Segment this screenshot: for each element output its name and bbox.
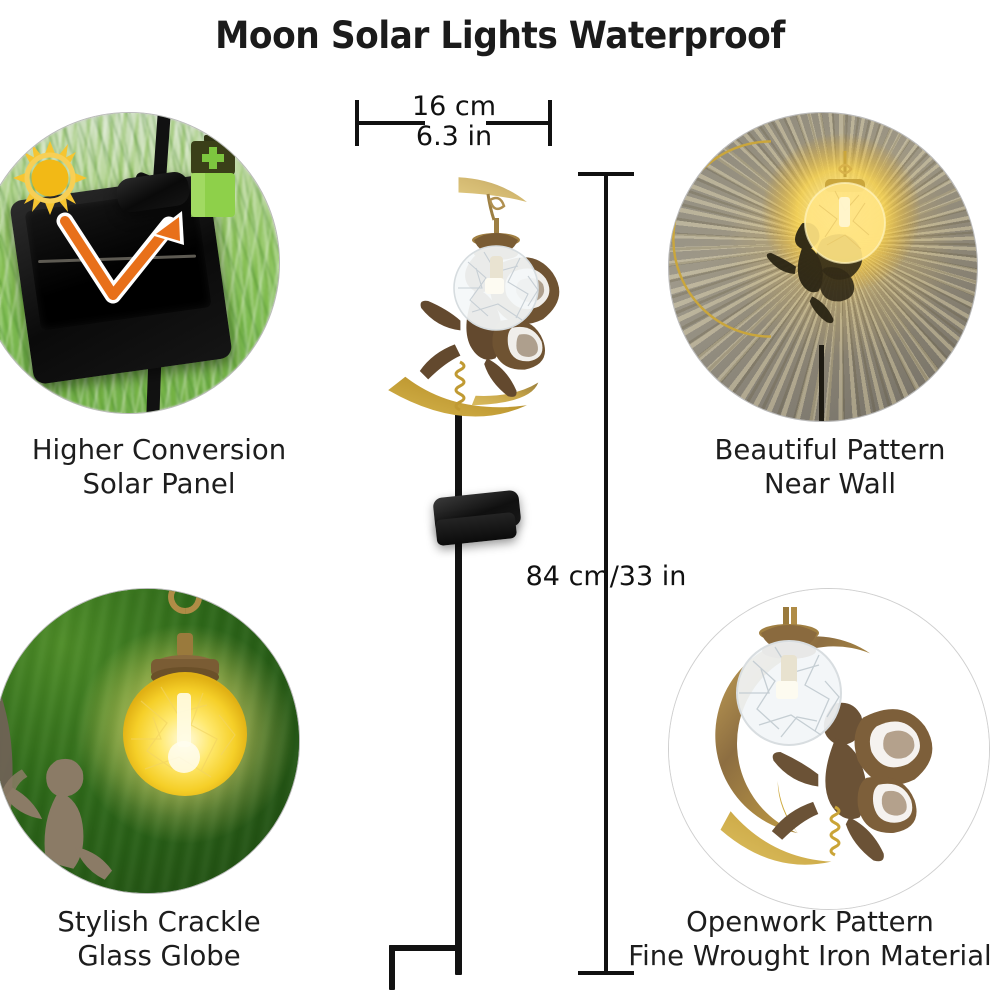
caption-openwork-pattern: Openwork Pattern Fine Wrought Iron Mater… [620, 906, 1000, 973]
caption-wall-pattern-line1: Beautiful Pattern [715, 434, 946, 466]
stake-crossbar [389, 945, 459, 951]
moon-fairy-icon [669, 589, 990, 910]
conversion-arrow-icon [0, 113, 279, 413]
caption-glass-globe: Stylish Crackle Glass Globe [0, 906, 318, 973]
crackle-globe [737, 607, 841, 745]
caption-solar-panel-line2: Solar Panel [0, 468, 318, 502]
height-dimension-label: 84 cm/33 in [466, 562, 746, 592]
feature-image-openwork-pattern [668, 588, 990, 910]
caption-solar-panel-line1: Higher Conversion [32, 434, 286, 466]
width-dimension-cm: 16 cm [412, 91, 496, 122]
moon-lamp-icon [669, 113, 978, 422]
feature-image-wall-pattern [668, 112, 978, 422]
width-dimension-in: 6.3 in [356, 122, 552, 152]
conversion-arrow-svg [0, 113, 280, 414]
caption-openwork-pattern-line1: Openwork Pattern [686, 906, 934, 938]
width-dimension-label: 16 cm 6.3 in [356, 92, 552, 152]
caption-glass-globe-line2: Glass Globe [0, 940, 318, 974]
product-globe [454, 194, 538, 330]
caption-solar-panel: Higher Conversion Solar Panel [0, 434, 318, 501]
caption-openwork-pattern-line2: Fine Wrought Iron Material [620, 940, 1000, 974]
globe-lamp-icon [0, 589, 300, 894]
infographic-canvas: Moon Solar Lights Waterproof [0, 0, 1000, 1000]
caption-wall-pattern-line2: Near Wall [660, 468, 1000, 502]
page-title: Moon Solar Lights Waterproof [35, 14, 965, 57]
caption-wall-pattern: Beautiful Pattern Near Wall [660, 434, 1000, 501]
product-moon-lamp [338, 160, 578, 430]
caption-glass-globe-line1: Stylish Crackle [57, 906, 260, 938]
product-stake-rod [455, 405, 462, 975]
height-dim-bottom-cap [578, 971, 634, 975]
stake-leg [389, 945, 395, 990]
feature-image-glass-globe [0, 588, 300, 894]
feature-image-solar-panel [0, 112, 280, 414]
